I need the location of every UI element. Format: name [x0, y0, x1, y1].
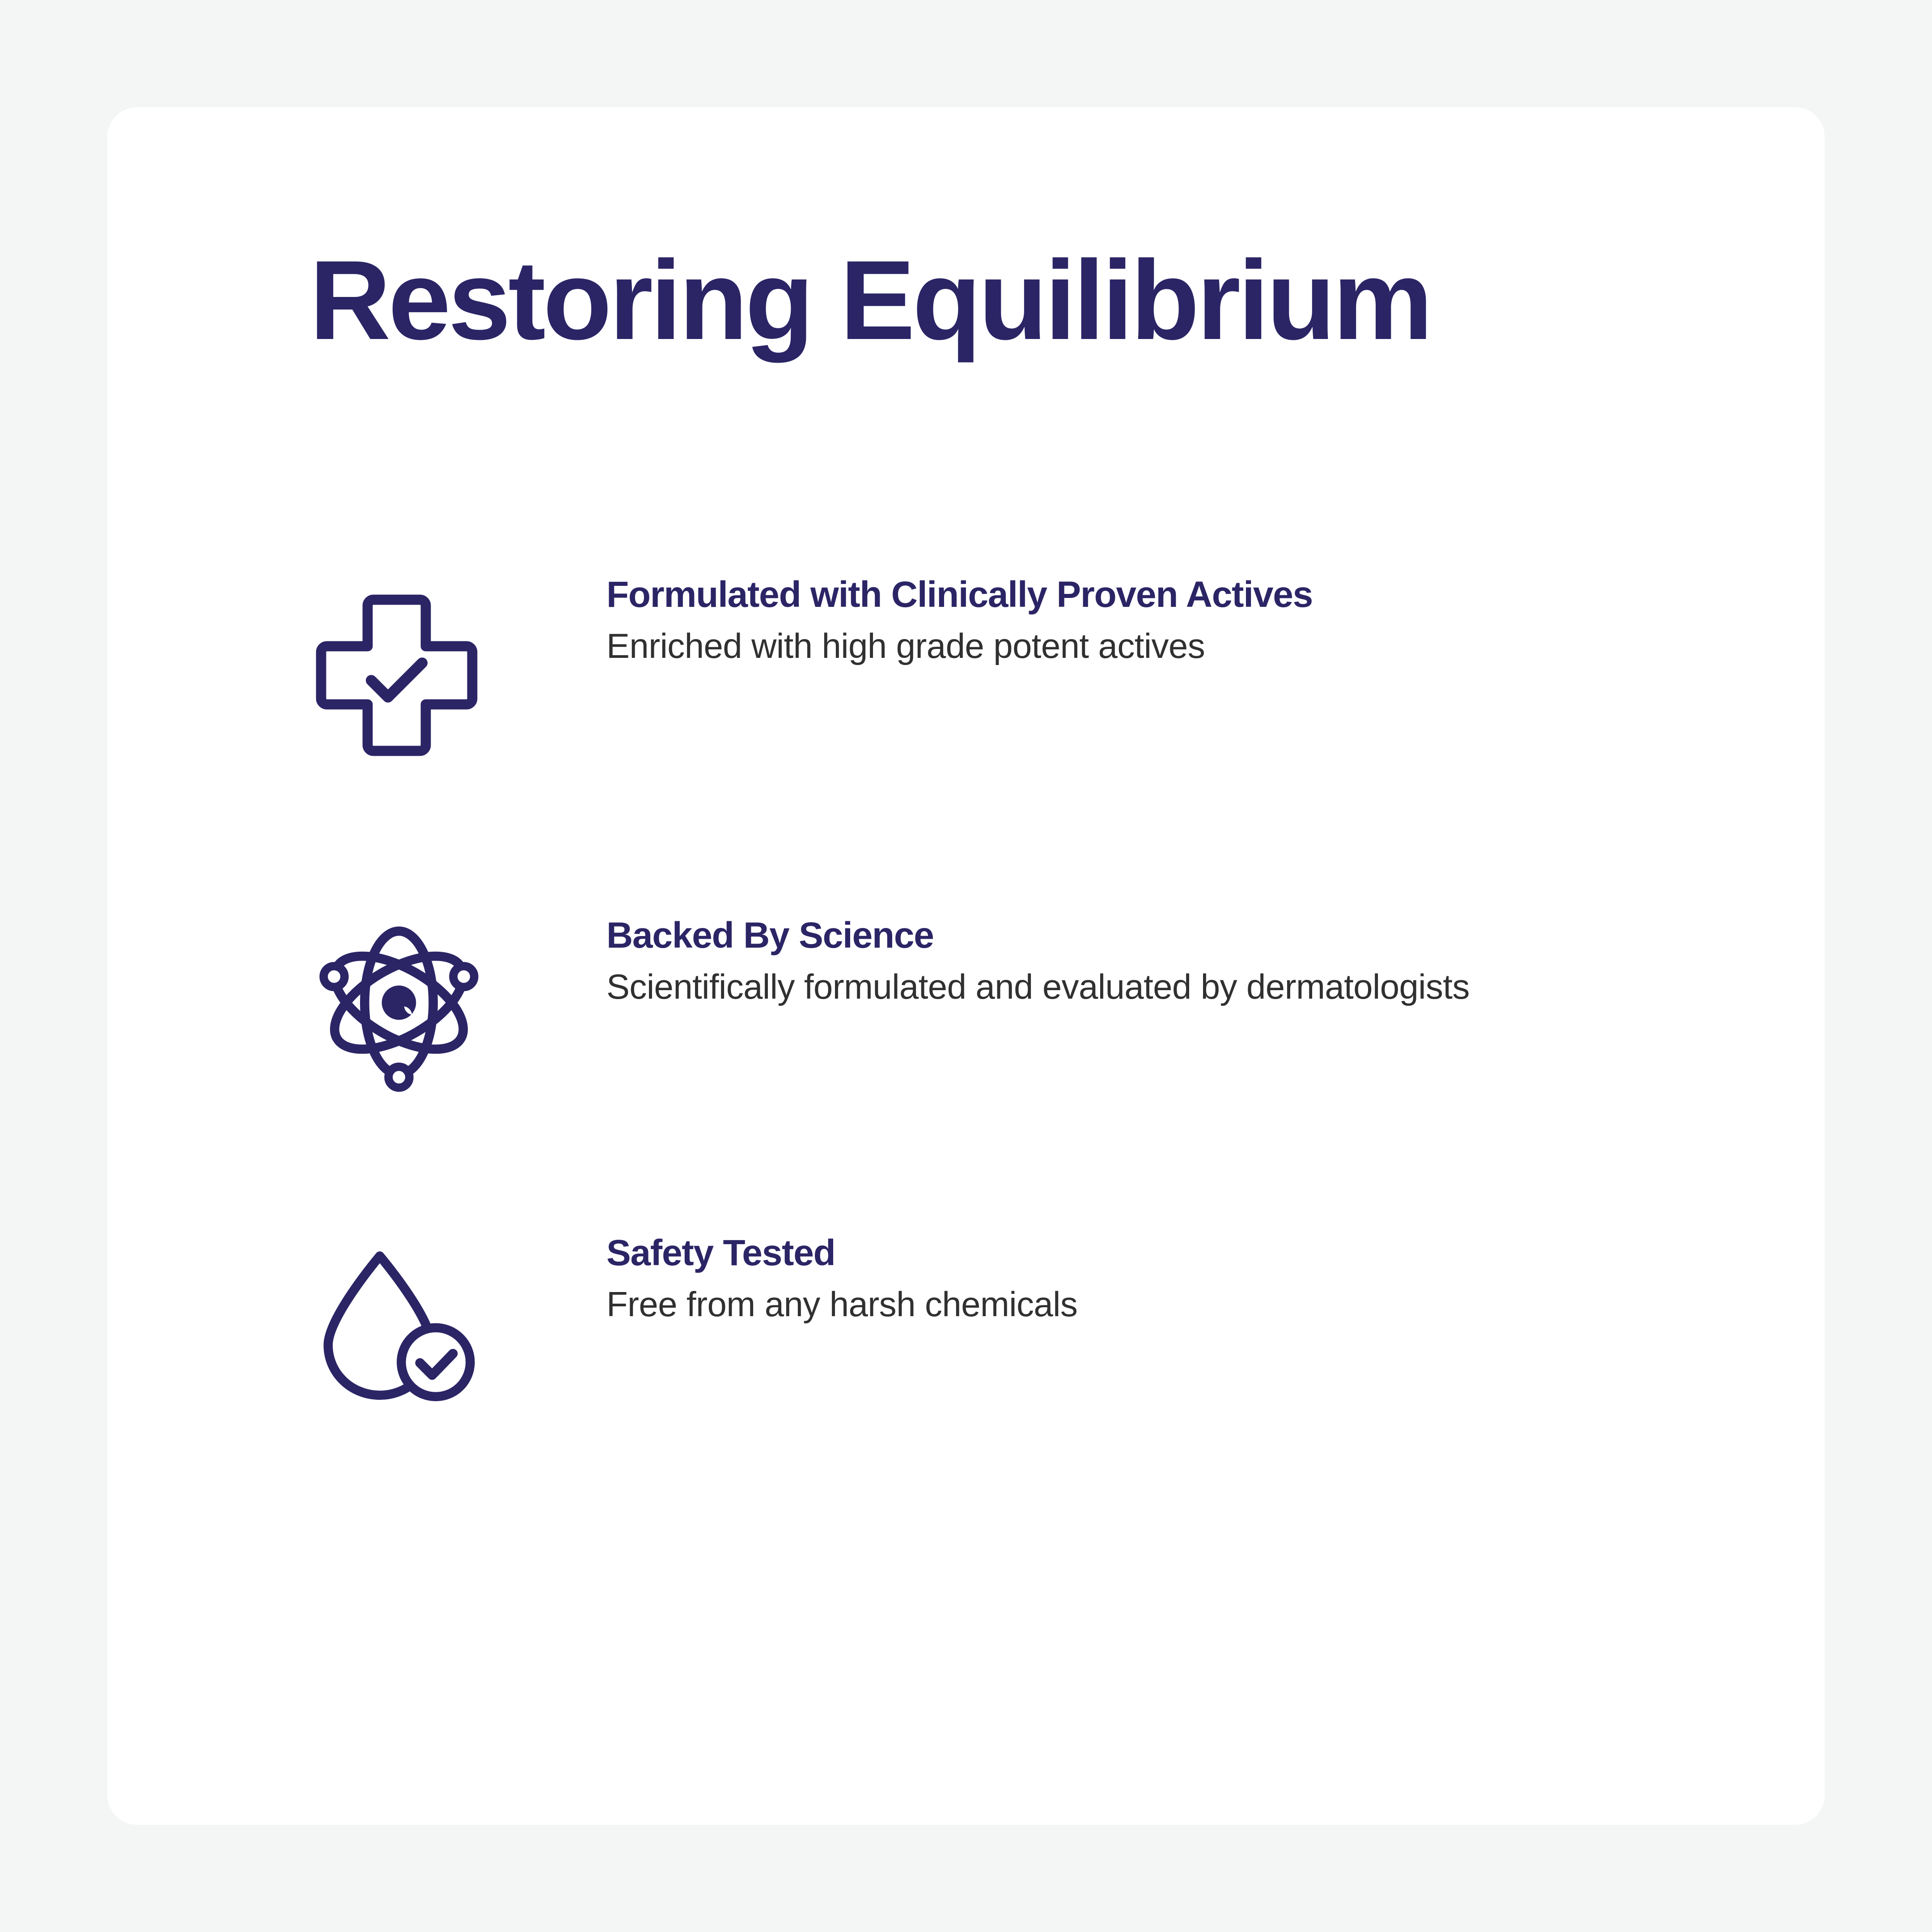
- feature-list: Formulated with Clinically Proven Active…: [309, 572, 1696, 1411]
- feature-title: Formulated with Clinically Proven Active…: [606, 572, 1631, 617]
- atom-icon: [309, 913, 497, 1092]
- page-root: Restoring Equilibrium Formulated with Cl…: [0, 0, 1932, 1932]
- feature-description: Free from any harsh chemicals: [606, 1282, 1622, 1327]
- feature-text-block: Safety Tested Free from any harsh chemic…: [497, 1231, 1696, 1327]
- feature-description: Scientifically formulated and evaluated …: [606, 964, 1613, 1009]
- feature-text-block: Formulated with Clinically Proven Active…: [497, 572, 1696, 669]
- page-title: Restoring Equilibrium: [309, 241, 1430, 360]
- feature-description: Enriched with high grade potent actives: [606, 623, 1622, 669]
- feature-card: Restoring Equilibrium Formulated with Cl…: [107, 107, 1825, 1825]
- feature-text-block: Backed By Science Scientifically formula…: [497, 913, 1696, 1009]
- water-drop-check-icon: [309, 1231, 497, 1411]
- medical-cross-check-icon: [309, 572, 497, 757]
- feature-item-clinically-proven-actives: Formulated with Clinically Proven Active…: [309, 572, 1696, 757]
- feature-item-backed-by-science: Backed By Science Scientifically formula…: [309, 913, 1696, 1092]
- feature-title: Backed By Science: [606, 913, 1635, 958]
- feature-title: Safety Tested: [606, 1231, 1635, 1275]
- feature-item-safety-tested: Safety Tested Free from any harsh chemic…: [309, 1231, 1696, 1411]
